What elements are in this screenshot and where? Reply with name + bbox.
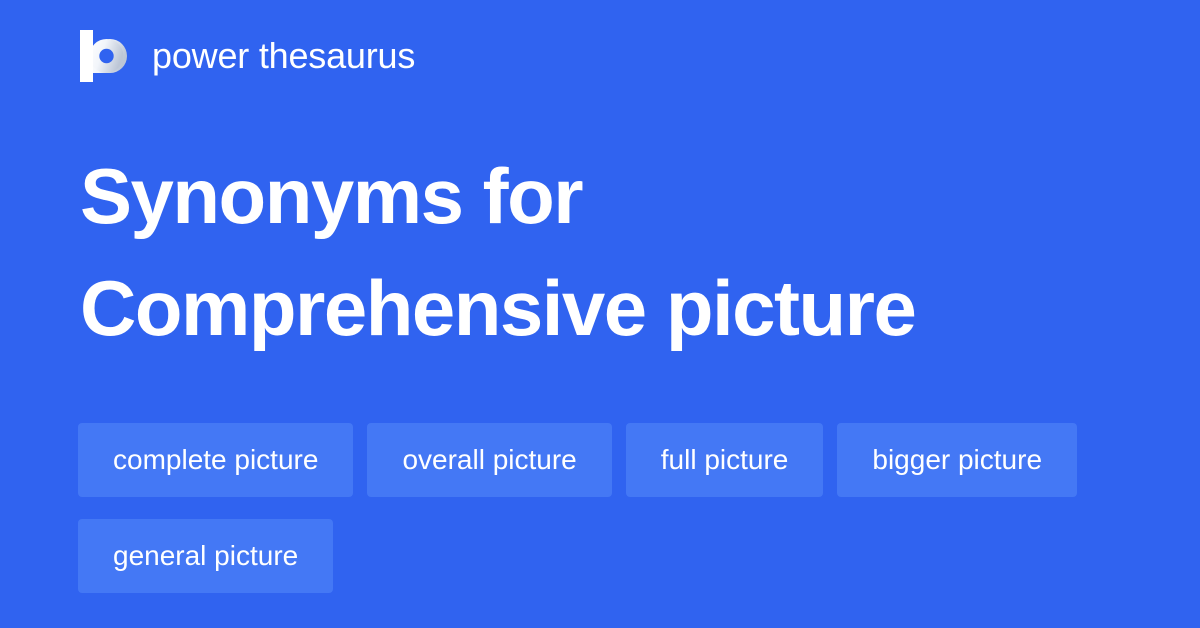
page-title-line-2: Comprehensive picture (80, 252, 1140, 364)
synonym-chip-list: complete picture overall picture full pi… (78, 423, 1138, 593)
share-card: power thesaurus Synonyms for Comprehensi… (0, 0, 1200, 628)
page-title: Synonyms for Comprehensive picture (80, 140, 1140, 364)
synonym-chip[interactable]: complete picture (78, 423, 353, 497)
brand-name: power thesaurus (152, 38, 415, 74)
power-thesaurus-b-logo-icon (80, 30, 128, 82)
synonym-chip[interactable]: full picture (626, 423, 824, 497)
synonym-chip[interactable]: overall picture (367, 423, 611, 497)
brand-logo[interactable]: power thesaurus (80, 28, 415, 84)
synonym-chip[interactable]: bigger picture (837, 423, 1077, 497)
synonym-chip[interactable]: general picture (78, 519, 333, 593)
page-title-line-1: Synonyms for (80, 140, 1140, 252)
